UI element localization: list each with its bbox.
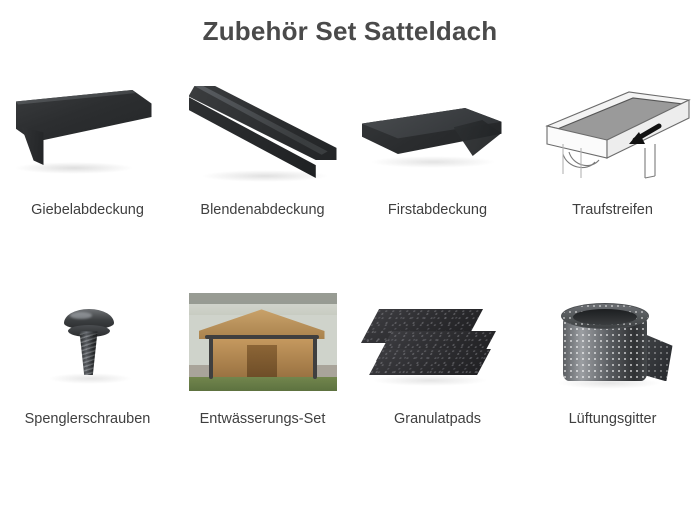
accessory-caption: Giebelabdeckung	[0, 202, 175, 219]
accessory-row-1: Giebelabdeckung Blendenabdeckung	[0, 78, 700, 219]
accessory-caption: Spenglerschrauben	[0, 411, 175, 428]
accessory-row-2: Spenglerschrauben	[0, 287, 700, 428]
accessory-caption: Entwässerungs-Set	[175, 411, 350, 428]
eaves-strip-diagram-icon	[533, 78, 693, 188]
accessory-caption: Traufstreifen	[525, 202, 700, 219]
ventilation-mesh-roll-icon	[533, 287, 693, 397]
accessory-item-giebelabdeckung[interactable]: Giebelabdeckung	[0, 78, 175, 219]
accessory-caption: Granulatpads	[350, 411, 525, 428]
ridge-cover-profile-icon	[358, 78, 518, 188]
roofing-screw-icon	[8, 287, 168, 397]
shed-gutter-photo-icon	[183, 287, 343, 397]
page-title: Zubehör Set Satteldach	[0, 16, 700, 47]
accessory-item-entwaesserungs-set[interactable]: Entwässerungs-Set	[175, 287, 350, 428]
accessory-item-firstabdeckung[interactable]: Firstabdeckung	[350, 78, 525, 219]
accessory-item-granulatpads[interactable]: Granulatpads	[350, 287, 525, 428]
product-accessory-overview: Zubehör Set Satteldach Giebelabdeckung	[0, 0, 700, 525]
accessory-caption: Firstabdeckung	[350, 202, 525, 219]
accessory-item-traufstreifen[interactable]: Traufstreifen	[525, 78, 700, 219]
accessory-caption: Blendenabdeckung	[175, 202, 350, 219]
accessory-grid: Giebelabdeckung Blendenabdeckung	[0, 78, 700, 429]
accessory-caption: Lüftungsgitter	[525, 411, 700, 428]
accessory-item-spenglerschrauben[interactable]: Spenglerschrauben	[0, 287, 175, 428]
accessory-item-lueftungsgitter[interactable]: Lüftungsgitter	[525, 287, 700, 428]
fascia-cover-profile-icon	[183, 78, 343, 188]
granulate-pads-icon	[358, 287, 518, 397]
gable-cover-profile-icon	[8, 78, 168, 188]
accessory-item-blendenabdeckung[interactable]: Blendenabdeckung	[175, 78, 350, 219]
